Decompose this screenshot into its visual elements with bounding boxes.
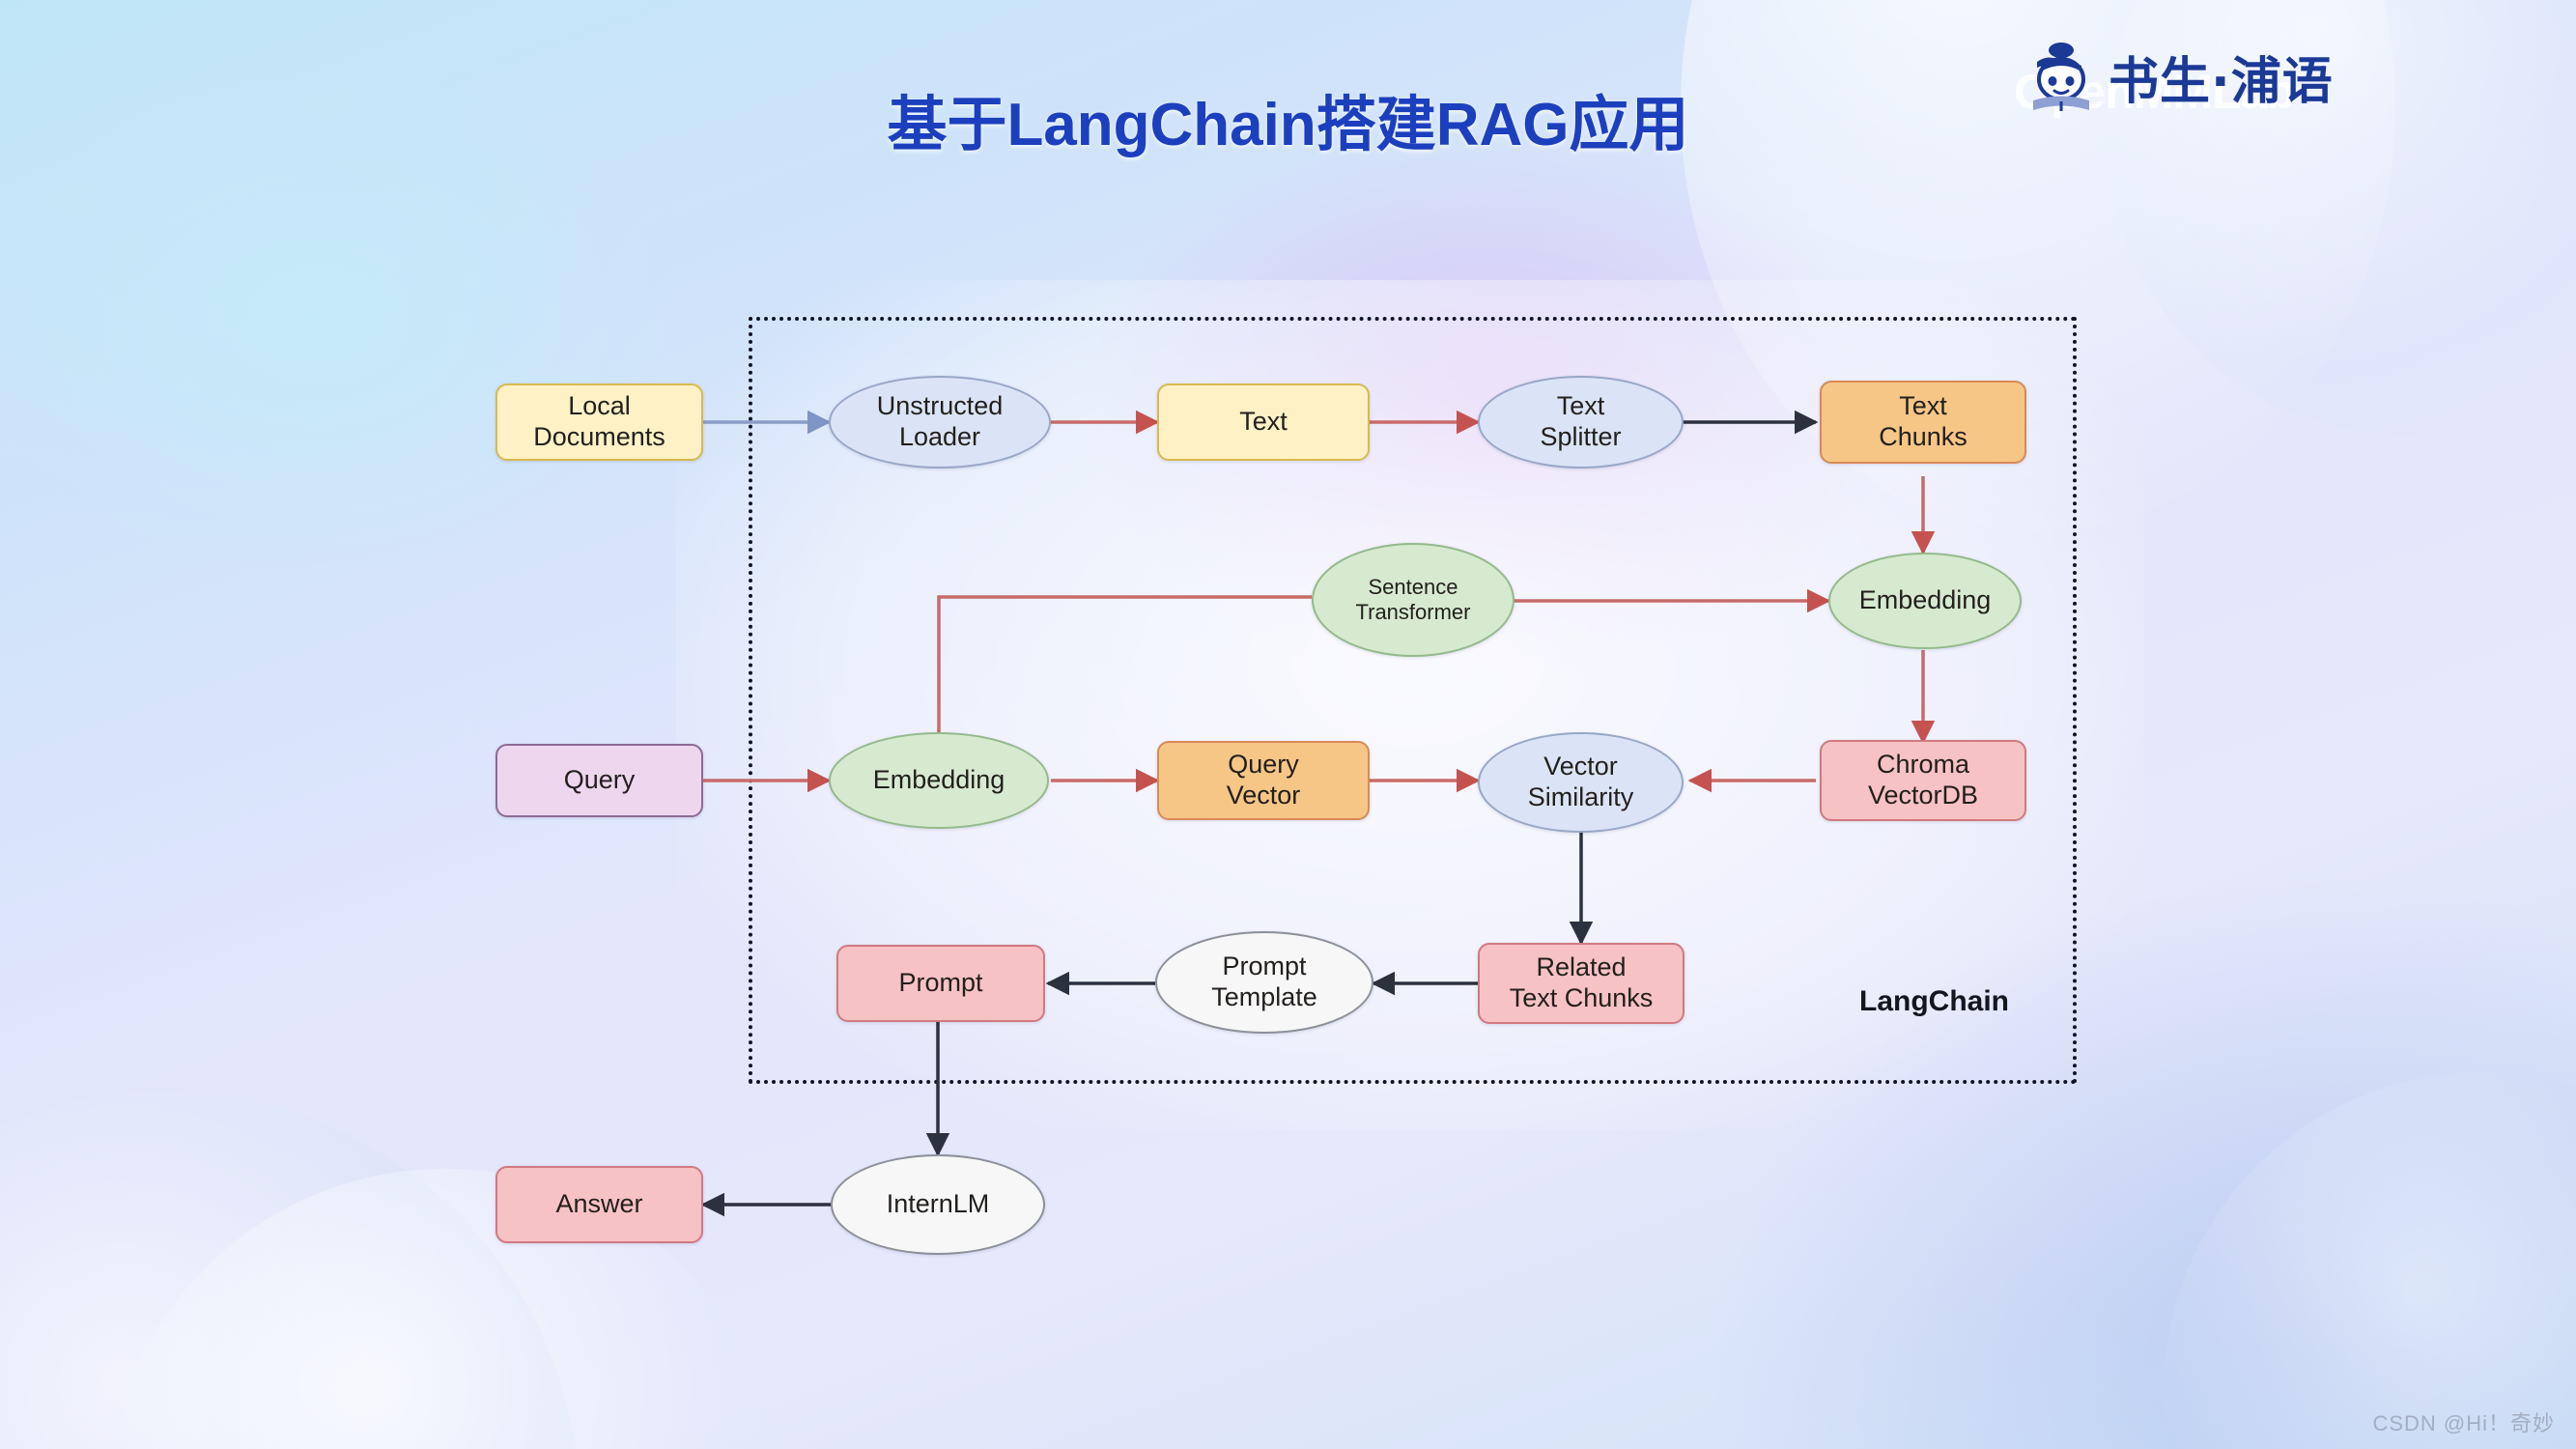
node-embedding-top[interactable]: Embedding: [1828, 553, 2022, 649]
node-local-documents-label: Local Documents: [533, 391, 665, 453]
node-prompt-template-label: Prompt Template: [1211, 952, 1317, 1013]
node-text-chunks-label: Text Chunks: [1879, 391, 1967, 453]
node-vector-similarity-label: Vector Similarity: [1528, 752, 1634, 813]
node-internlm-label: InternLM: [887, 1189, 990, 1220]
slide-canvas: 基于LangChain搭建RAG应用 OpenMMLab 书生·浦语: [0, 0, 2576, 1449]
node-local-documents[interactable]: Local Documents: [495, 384, 703, 461]
node-query-label: Query: [564, 765, 636, 796]
node-unstructed-loader[interactable]: Unstructed Loader: [829, 376, 1051, 469]
node-vector-similarity[interactable]: Vector Similarity: [1478, 732, 1684, 833]
node-chroma-vectordb[interactable]: Chroma VectorDB: [1820, 740, 2026, 821]
node-prompt-template[interactable]: Prompt Template: [1155, 931, 1373, 1034]
node-prompt-label: Prompt: [898, 968, 982, 999]
node-sentence-transformer[interactable]: Sentence Transformer: [1312, 543, 1514, 657]
node-answer-label: Answer: [555, 1189, 642, 1220]
node-text-chunks[interactable]: Text Chunks: [1820, 381, 2026, 464]
node-embedding-top-label: Embedding: [1859, 585, 1992, 616]
node-text[interactable]: Text: [1157, 384, 1370, 461]
node-text-splitter-label: Text Splitter: [1540, 391, 1621, 453]
node-embedding-bottom[interactable]: Embedding: [829, 732, 1049, 829]
node-related-text-chunks[interactable]: Related Text Chunks: [1478, 943, 1684, 1024]
node-query-vector[interactable]: Query Vector: [1157, 741, 1370, 820]
node-text-label: Text: [1239, 407, 1288, 438]
node-sentence-transformer-label: Sentence Transformer: [1356, 575, 1471, 625]
node-query-vector-label: Query Vector: [1227, 750, 1301, 811]
diagram-edge-layer: [0, 0, 2576, 1449]
node-prompt[interactable]: Prompt: [836, 945, 1045, 1022]
node-chroma-vectordb-label: Chroma VectorDB: [1868, 750, 1978, 811]
node-query[interactable]: Query: [495, 744, 703, 817]
node-answer[interactable]: Answer: [495, 1166, 703, 1243]
node-text-splitter[interactable]: Text Splitter: [1478, 376, 1684, 469]
node-unstructed-loader-label: Unstructed Loader: [877, 391, 1004, 453]
node-embedding-bottom-label: Embedding: [873, 765, 1005, 796]
node-related-text-chunks-label: Related Text Chunks: [1510, 952, 1654, 1014]
node-internlm[interactable]: InternLM: [831, 1154, 1045, 1255]
